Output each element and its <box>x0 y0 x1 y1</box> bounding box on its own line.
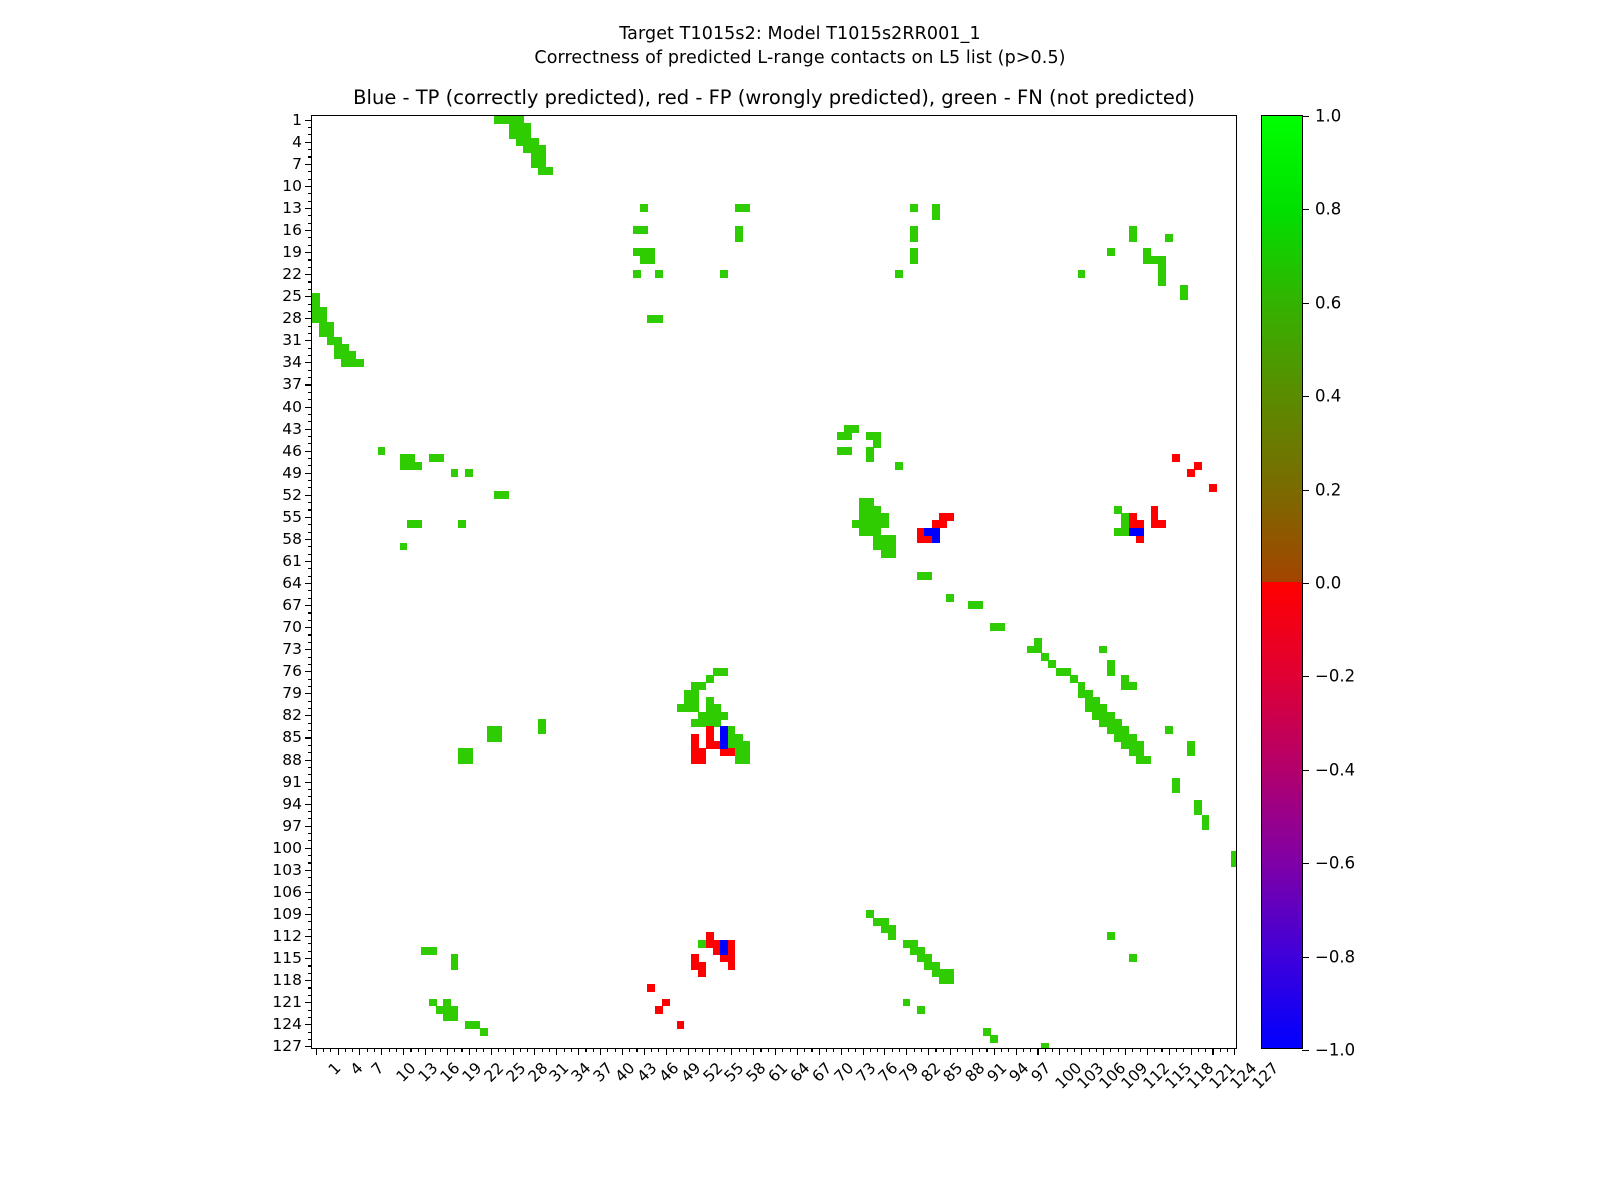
y-axis-tick-minor <box>308 392 312 393</box>
x-axis-tick-major <box>666 1048 667 1055</box>
y-axis-tick-label: 91 <box>282 773 302 791</box>
y-axis-tick-minor <box>308 811 312 812</box>
x-axis-tick-minor <box>345 1048 346 1052</box>
contact-cell-fn <box>910 204 918 212</box>
y-axis-tick-major <box>305 627 312 628</box>
y-axis-tick-label: 58 <box>282 530 302 548</box>
y-axis-tick-major <box>305 120 312 121</box>
y-axis-tick-minor <box>308 590 312 591</box>
colorbar-tick <box>1302 303 1309 304</box>
contact-cell-fp <box>647 984 655 992</box>
y-axis-tick-minor <box>308 907 312 908</box>
contact-cell-fn <box>1107 668 1115 676</box>
contact-cell-fn <box>720 668 728 676</box>
x-axis-tick-minor <box>1089 1048 1090 1052</box>
y-axis-tick-label: 94 <box>282 795 302 813</box>
contact-cell-fn <box>378 447 386 455</box>
colorbar-tick <box>1302 396 1309 397</box>
y-axis-tick-major <box>305 186 312 187</box>
y-axis-tick-label: 1 <box>292 111 302 129</box>
x-axis-tick-minor <box>410 1048 411 1052</box>
y-axis-tick-major <box>305 208 312 209</box>
contact-cell-fn <box>742 204 750 212</box>
contact-cell-fn <box>706 675 714 683</box>
colorbar-tick-label: −0.4 <box>1315 760 1355 779</box>
colorbar-tick-label: −1.0 <box>1315 1041 1355 1060</box>
y-axis-tick-minor <box>308 568 312 569</box>
y-axis-tick-major <box>305 737 312 738</box>
x-axis-tick-minor <box>571 1048 572 1052</box>
x-axis-tick-minor <box>833 1048 834 1052</box>
y-axis-tick-label: 52 <box>282 486 302 504</box>
y-axis-tick-label: 127 <box>272 1037 302 1055</box>
x-axis-tick-minor <box>826 1048 827 1052</box>
contact-cell-fn <box>480 1028 488 1036</box>
y-axis-tick-minor <box>308 767 312 768</box>
x-axis-tick-minor <box>476 1048 477 1052</box>
y-axis-tick-minor <box>308 796 312 797</box>
contact-cell-fn <box>1129 234 1137 242</box>
contact-cell-fp <box>946 513 954 521</box>
contact-cell-fn <box>852 425 860 433</box>
x-axis-tick-minor <box>1220 1048 1221 1052</box>
y-axis-tick-label: 64 <box>282 574 302 592</box>
contact-cell-fn <box>742 756 750 764</box>
contact-cell-fn <box>436 454 444 462</box>
y-axis-tick-minor <box>308 421 312 422</box>
contact-cell-tp <box>1136 528 1144 536</box>
x-axis-tick-minor <box>790 1048 791 1052</box>
contact-cell-fn <box>895 462 903 470</box>
x-axis-tick-major <box>534 1048 535 1055</box>
x-axis-tick-minor <box>695 1048 696 1052</box>
x-axis-tick-major <box>359 1048 360 1055</box>
y-axis-tick-major <box>305 407 312 408</box>
contact-cell-fn <box>451 962 459 970</box>
x-axis-tick-major <box>425 1048 426 1055</box>
contact-cell-fn <box>932 212 940 220</box>
y-axis-tick-minor <box>308 686 312 687</box>
x-axis-tick-major <box>1169 1048 1170 1055</box>
x-axis-tick-major <box>709 1048 710 1055</box>
x-axis-tick-major <box>1081 1048 1082 1055</box>
y-axis-tick-minor <box>308 598 312 599</box>
contact-cell-fn <box>414 462 422 470</box>
y-axis-tick-label: 61 <box>282 552 302 570</box>
x-axis-tick-major <box>863 1048 864 1055</box>
x-axis-tick-minor <box>1045 1048 1046 1052</box>
colorbar-tick-label: 0.4 <box>1315 387 1341 406</box>
y-axis-tick-major <box>305 429 312 430</box>
x-axis-tick-minor <box>760 1048 761 1052</box>
x-axis-tick-minor <box>724 1048 725 1052</box>
x-axis-tick-major <box>928 1048 929 1055</box>
colorbar-tick-label: 0.2 <box>1315 480 1341 499</box>
y-axis-tick-minor <box>308 701 312 702</box>
y-axis-tick-major <box>305 649 312 650</box>
y-axis-tick-minor <box>308 855 312 856</box>
x-axis-tick-major <box>1212 1048 1213 1055</box>
colorbar-tick <box>1302 770 1309 771</box>
x-axis-tick-major <box>884 1048 885 1055</box>
colorbar-tick <box>1302 209 1309 210</box>
y-axis-tick-major <box>305 583 312 584</box>
contact-cell-fn <box>356 359 364 367</box>
x-axis-tick-major <box>731 1048 732 1055</box>
y-axis-tick-label: 16 <box>282 221 302 239</box>
y-axis-tick-major <box>305 384 312 385</box>
contact-cell-fn <box>1202 822 1210 830</box>
x-axis-tick-major <box>1125 1048 1126 1055</box>
contact-cell-fn <box>1158 278 1166 286</box>
x-axis-tick-minor <box>498 1048 499 1052</box>
suptitle-line-1: Target T1015s2: Model T1015s2RR001_1 <box>619 24 980 44</box>
contact-cell-fp <box>655 1006 663 1014</box>
y-axis-tick-label: 31 <box>282 331 302 349</box>
contact-cell-fp <box>1209 484 1217 492</box>
contact-cell-fn <box>990 1035 998 1043</box>
y-axis-tick-major <box>305 693 312 694</box>
y-axis-tick-major <box>305 274 312 275</box>
contact-cell-fn <box>888 550 896 558</box>
x-axis-tick-major <box>753 1048 754 1055</box>
y-axis-tick-minor <box>308 532 312 533</box>
x-axis-tick-minor <box>330 1048 331 1052</box>
x-axis-tick-minor <box>1198 1048 1199 1052</box>
x-axis-tick-minor <box>1074 1048 1075 1052</box>
y-axis-tick-minor <box>308 708 312 709</box>
y-axis-tick-minor <box>308 840 312 841</box>
colorbar-tick <box>1302 490 1309 491</box>
y-axis-tick-minor <box>308 885 312 886</box>
contact-cell-fn <box>910 234 918 242</box>
y-axis-tick-minor <box>308 634 312 635</box>
x-axis-tick-minor <box>855 1048 856 1052</box>
y-axis-tick-minor <box>308 289 312 290</box>
contact-cell-fp <box>1158 520 1166 528</box>
y-axis-tick-major <box>305 252 312 253</box>
x-axis-tick-major <box>688 1048 689 1055</box>
y-axis-tick-major <box>305 296 312 297</box>
colorbar-tick <box>1302 957 1309 958</box>
contact-cell-fn <box>881 520 889 528</box>
x-axis-tick-major <box>447 1048 448 1055</box>
y-axis-tick-minor <box>308 774 312 775</box>
x-axis-tick-minor <box>527 1048 528 1052</box>
y-axis-tick-minor <box>308 370 312 371</box>
x-axis-tick-major <box>644 1048 645 1055</box>
y-axis-tick-major <box>305 1002 312 1003</box>
y-axis-tick-minor <box>308 436 312 437</box>
contact-cell-fn <box>414 520 422 528</box>
y-axis-tick-minor <box>308 679 312 680</box>
x-axis-tick-minor <box>1161 1048 1162 1052</box>
y-axis-tick-label: 34 <box>282 353 302 371</box>
x-axis-tick-major <box>1059 1048 1060 1055</box>
x-axis-tick-minor <box>1052 1048 1053 1052</box>
x-axis-tick-minor <box>870 1048 871 1052</box>
x-axis-tick-minor <box>1118 1048 1119 1052</box>
colorbar-tick <box>1302 583 1309 584</box>
y-axis-tick-minor <box>308 267 312 268</box>
contact-cell-fn <box>1107 248 1115 256</box>
y-axis-tick-minor <box>308 245 312 246</box>
contact-cell-fn <box>1165 234 1173 242</box>
y-axis-tick-minor <box>308 223 312 224</box>
y-axis-tick-minor <box>308 1010 312 1011</box>
x-axis-tick-minor <box>811 1048 812 1052</box>
y-axis-tick-major <box>305 892 312 893</box>
y-axis-tick-minor <box>308 333 312 334</box>
contact-cell-fn <box>866 454 874 462</box>
y-axis-tick-major <box>305 848 312 849</box>
x-axis-tick-major <box>819 1048 820 1055</box>
x-axis-tick-minor <box>1140 1048 1141 1052</box>
contact-cell-fn <box>946 976 954 984</box>
x-axis-tick-minor <box>673 1048 674 1052</box>
x-axis-tick-major <box>491 1048 492 1055</box>
x-axis-tick-major <box>469 1048 470 1055</box>
contact-cell-fn <box>1187 748 1195 756</box>
y-axis-tick-minor <box>308 127 312 128</box>
x-axis-tick-label: 7 <box>368 1059 388 1079</box>
contact-cell-fn <box>698 682 706 690</box>
x-axis-tick-major <box>578 1048 579 1055</box>
y-axis-tick-label: 106 <box>272 883 302 901</box>
contact-cell-fn <box>903 999 911 1007</box>
x-axis-tick-minor <box>1132 1048 1133 1052</box>
y-axis-tick-label: 37 <box>282 375 302 393</box>
contact-cell-fn <box>917 1006 925 1014</box>
contact-cell-fn <box>1143 756 1151 764</box>
y-axis-tick-label: 97 <box>282 817 302 835</box>
x-axis-tick-major <box>1234 1048 1235 1055</box>
contact-cell-fp <box>1136 535 1144 543</box>
contact-cell-fn <box>720 712 728 720</box>
contact-cell-fn <box>429 947 437 955</box>
contact-cell-fn <box>844 432 852 440</box>
x-axis-tick-major <box>972 1048 973 1055</box>
x-axis-tick-major <box>1147 1048 1148 1055</box>
contact-cell-fn <box>1129 954 1137 962</box>
contact-cell-fn <box>640 204 648 212</box>
x-axis-tick-minor <box>986 1048 987 1052</box>
y-axis-tick-minor <box>308 995 312 996</box>
y-axis-tick-minor <box>308 943 312 944</box>
x-axis-tick-major <box>1191 1048 1192 1055</box>
x-axis-tick-minor <box>651 1048 652 1052</box>
contact-cell-fn <box>873 440 881 448</box>
y-axis-tick-minor <box>308 730 312 731</box>
y-axis-tick-major <box>305 804 312 805</box>
y-axis-tick-label: 43 <box>282 420 302 438</box>
y-axis-tick-major <box>305 980 312 981</box>
y-axis-tick-label: 85 <box>282 728 302 746</box>
y-axis-tick-label: 88 <box>282 751 302 769</box>
y-axis-tick-major <box>305 230 312 231</box>
y-axis-tick-label: 7 <box>292 155 302 173</box>
x-axis-tick-major <box>622 1048 623 1055</box>
y-axis-tick-minor <box>308 348 312 349</box>
contact-cell-fn <box>494 734 502 742</box>
x-axis-tick-minor <box>957 1048 958 1052</box>
contact-cell-fn <box>633 270 641 278</box>
x-axis-tick-minor <box>892 1048 893 1052</box>
y-axis-tick-major <box>305 914 312 915</box>
x-axis-tick-minor <box>461 1048 462 1052</box>
colorbar-tick-label: 1.0 <box>1315 107 1341 126</box>
contact-cell-fn <box>451 1013 459 1021</box>
x-axis-tick-minor <box>593 1048 594 1052</box>
x-axis-tick-major <box>316 1048 317 1055</box>
y-axis-tick-minor <box>308 443 312 444</box>
y-axis-tick-minor <box>308 414 312 415</box>
figure-root: Target T1015s2: Model T1015s2RR001_1 Cor… <box>0 0 1600 1200</box>
contact-cell-fn <box>997 623 1005 631</box>
contact-cell-fp <box>662 999 670 1007</box>
contact-cell-fn <box>655 270 663 278</box>
x-axis-tick-minor <box>680 1048 681 1052</box>
contact-cell-fn <box>1231 859 1236 867</box>
y-axis-tick-minor <box>308 134 312 135</box>
y-axis-tick-minor <box>308 664 312 665</box>
colorbar-tick-label: −0.2 <box>1315 667 1355 686</box>
contact-cell-fn <box>976 601 984 609</box>
colorbar-tick-label: 0.0 <box>1315 574 1341 593</box>
x-axis-tick-minor <box>1001 1048 1002 1052</box>
x-axis-tick-minor <box>520 1048 521 1052</box>
y-axis-tick-label: 100 <box>272 839 302 857</box>
y-axis-tick-minor <box>308 951 312 952</box>
y-axis-tick-major <box>305 517 312 518</box>
x-axis-tick-minor <box>1183 1048 1184 1052</box>
y-axis-tick-minor <box>308 171 312 172</box>
contact-cell-fn <box>465 469 473 477</box>
y-axis-tick-minor <box>308 149 312 150</box>
x-axis-tick-minor <box>768 1048 769 1052</box>
y-axis-tick-minor <box>308 237 312 238</box>
y-axis-tick-major <box>305 451 312 452</box>
contact-cell-fn <box>1099 646 1107 654</box>
x-axis-tick-major <box>950 1048 951 1055</box>
contact-cell-fp <box>677 1021 685 1029</box>
y-axis-tick-minor <box>308 458 312 459</box>
y-axis-tick-minor <box>308 987 312 988</box>
contact-cell-fp <box>698 756 706 764</box>
contact-cell-fn <box>400 543 408 551</box>
colorbar-tick <box>1302 116 1309 117</box>
y-axis-tick-minor <box>308 745 312 746</box>
contact-cell-fp <box>1194 462 1202 470</box>
x-axis-tick-minor <box>549 1048 550 1052</box>
y-axis-tick-minor <box>308 524 312 525</box>
contact-cell-fn <box>844 447 852 455</box>
y-axis-tick-major <box>305 561 312 562</box>
x-axis-tick-major <box>381 1048 382 1055</box>
contact-cell-fn <box>458 520 466 528</box>
x-axis-tick-minor <box>1176 1048 1177 1052</box>
y-axis-tick-label: 112 <box>272 927 302 945</box>
y-axis-tick-major <box>305 782 312 783</box>
y-axis-tick-label: 13 <box>282 199 302 217</box>
x-axis-tick-minor <box>542 1048 543 1052</box>
y-axis-tick-major <box>305 870 312 871</box>
contact-cell-fp <box>939 520 947 528</box>
y-axis-tick-minor <box>308 921 312 922</box>
contact-cell-fn <box>1180 293 1188 301</box>
colorbar-tick-label: 0.6 <box>1315 293 1341 312</box>
colorbar[interactable]: 1.00.80.60.40.20.0−0.2−0.4−0.6−0.8−1.0 <box>1261 115 1303 1049</box>
contact-cell-fp <box>698 969 706 977</box>
x-axis-tick-minor <box>505 1048 506 1052</box>
contact-cell-fn <box>647 256 655 264</box>
x-axis-tick-minor <box>432 1048 433 1052</box>
x-axis-tick-minor <box>585 1048 586 1052</box>
x-axis-tick-minor <box>564 1048 565 1052</box>
contact-cell-fn <box>1107 932 1115 940</box>
y-axis-tick-major <box>305 340 312 341</box>
colorbar-tick <box>1302 1050 1309 1051</box>
x-axis-tick-label: 127 <box>1249 1059 1283 1093</box>
contact-map-axes[interactable]: 1144771010131316161919222225252828313134… <box>311 115 1237 1049</box>
x-axis-tick-major <box>1103 1048 1104 1055</box>
y-axis-tick-major <box>305 142 312 143</box>
y-axis-tick-label: 73 <box>282 640 302 658</box>
x-axis-tick-minor <box>979 1048 980 1052</box>
x-axis-tick-minor <box>965 1048 966 1052</box>
contact-cell-fn <box>502 491 510 499</box>
y-axis-tick-label: 28 <box>282 309 302 327</box>
x-axis-tick-major <box>797 1048 798 1055</box>
y-axis-tick-label: 124 <box>272 1015 302 1033</box>
contact-cell-fn <box>465 756 473 764</box>
y-axis-tick-minor <box>308 862 312 863</box>
y-axis-tick-major <box>305 715 312 716</box>
contact-cell-tp <box>720 947 728 955</box>
x-axis-tick-minor <box>943 1048 944 1052</box>
x-axis-tick-minor <box>1205 1048 1206 1052</box>
x-axis-tick-minor <box>367 1048 368 1052</box>
y-axis-tick-minor <box>308 304 312 305</box>
x-axis-tick-minor <box>921 1048 922 1052</box>
x-axis-tick-minor <box>658 1048 659 1052</box>
y-axis-tick-major <box>305 826 312 827</box>
x-axis-tick-minor <box>1023 1048 1024 1052</box>
x-axis-tick-label: 97 <box>1027 1059 1054 1086</box>
y-axis-tick-minor <box>308 281 312 282</box>
y-axis-tick-label: 49 <box>282 464 302 482</box>
x-axis-tick-minor <box>804 1048 805 1052</box>
y-axis-tick-minor <box>308 929 312 930</box>
y-axis-tick-minor <box>308 576 312 577</box>
y-axis-tick-minor <box>308 546 312 547</box>
y-axis-tick-label: 22 <box>282 265 302 283</box>
colorbar-tick-label: −0.6 <box>1315 854 1355 873</box>
x-axis-tick-major <box>513 1048 514 1055</box>
contact-cell-fn <box>545 167 553 175</box>
y-axis-tick-major <box>305 605 312 606</box>
y-axis-tick-minor <box>308 620 312 621</box>
y-axis-tick-minor <box>308 193 312 194</box>
y-axis-tick-minor <box>308 1039 312 1040</box>
x-axis-tick-label: 4 <box>346 1059 366 1079</box>
y-axis-tick-label: 67 <box>282 596 302 614</box>
x-axis-tick-major <box>338 1048 339 1055</box>
y-axis-tick-minor <box>308 1032 312 1033</box>
x-axis-tick-major <box>775 1048 776 1055</box>
y-axis-tick-label: 19 <box>282 243 302 261</box>
contact-cell-fn <box>1078 270 1086 278</box>
